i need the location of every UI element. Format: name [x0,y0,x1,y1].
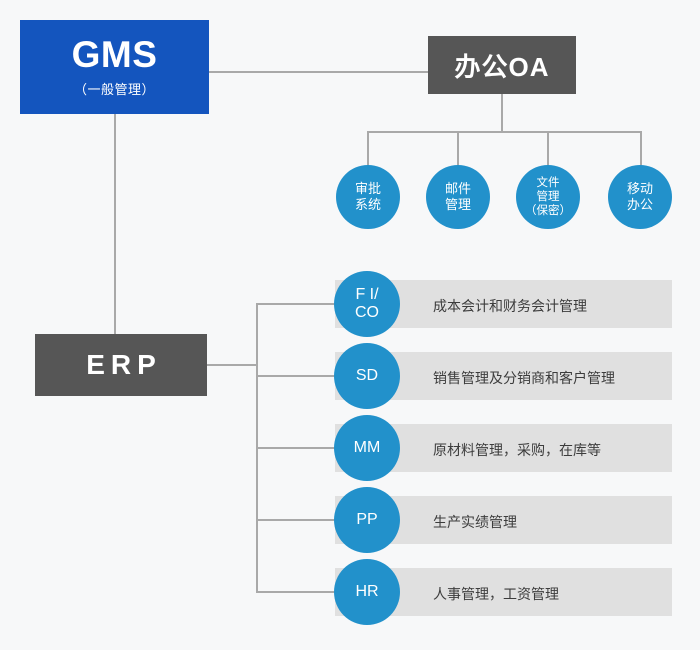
oa-child-label: 邮件 管理 [443,181,473,214]
connector-erp-branch-4 [256,519,346,521]
erp-title: ERP [80,349,162,381]
erp-module-mm[interactable]: MM [334,415,400,481]
erp-module-description: 原材料管理，采购，在库等 [433,440,601,460]
erp-module-description: 人事管理，工资管理 [433,584,559,604]
erp-module-hr[interactable]: HR [334,559,400,625]
erp-module-description: 销售管理及分销商和客户管理 [433,368,615,388]
connector-oa-bus [367,131,642,133]
connector-erp-branch-3 [256,447,346,449]
connector-oa-drop-1 [367,131,369,167]
gms-subtitle: （一般管理） [74,79,155,98]
connector-gms-to-oa [209,71,428,73]
oa-child-approval-system[interactable]: 审批 系统 [336,165,400,229]
erp-module-description: 成本会计和财务会计管理 [433,296,587,316]
connector-erp-branch-5 [256,591,346,593]
erp-module-code: SD [356,367,378,385]
connector-erp-branch-1 [256,303,346,305]
oa-child-file-management[interactable]: 文件 管理 （保密） [516,165,580,229]
gms-title: GMS [72,36,158,75]
erp-module-code: HR [355,583,378,601]
oa-child-mobile-office[interactable]: 移动 办公 [608,165,672,229]
oa-title: 办公OA [454,47,549,84]
node-erp[interactable]: ERP [35,334,207,396]
oa-child-label: 移动 办公 [625,181,655,214]
erp-module-fico[interactable]: F I/ CO [334,271,400,337]
erp-module-code: F I/ CO [355,286,379,323]
org-diagram-canvas: GMS （一般管理） 办公OA 审批 系统 邮件 管理 文件 管理 （保密） 移… [0,0,700,650]
erp-module-sd[interactable]: SD [334,343,400,409]
connector-gms-to-erp [114,114,116,334]
erp-module-code: PP [356,511,377,529]
connector-oa-drop-3 [547,131,549,167]
node-gms[interactable]: GMS （一般管理） [20,20,209,114]
erp-module-code: MM [354,439,381,457]
erp-module-description: 生产实绩管理 [433,512,517,532]
connector-erp-stem [207,364,258,366]
node-oa[interactable]: 办公OA [428,36,576,94]
connector-oa-drop-2 [457,131,459,167]
connector-erp-branch-2 [256,375,346,377]
connector-oa-drop-4 [640,131,642,167]
oa-child-mail-management[interactable]: 邮件 管理 [426,165,490,229]
oa-child-label: 文件 管理 （保密） [523,176,573,218]
connector-oa-stem [501,94,503,132]
erp-module-pp[interactable]: PP [334,487,400,553]
oa-child-label: 审批 系统 [353,181,383,214]
